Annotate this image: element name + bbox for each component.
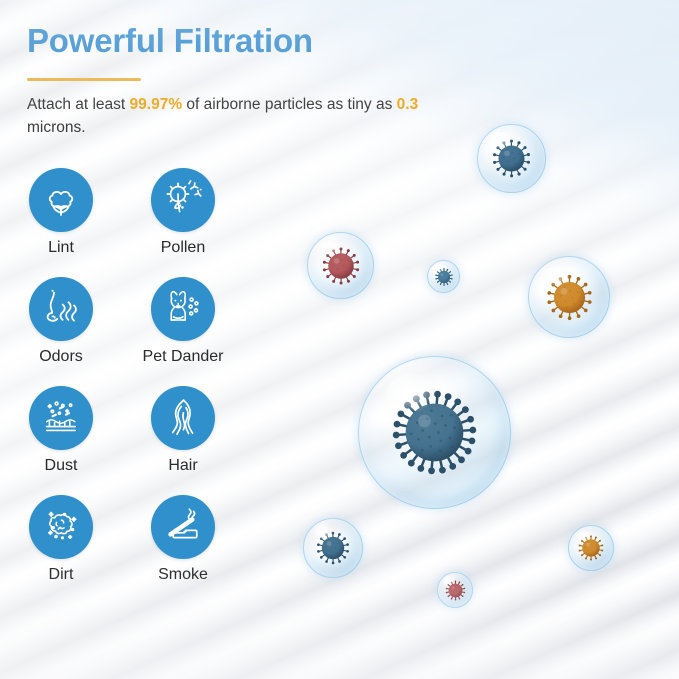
icon-label: Lint xyxy=(48,239,74,257)
icon-label: Odors xyxy=(39,348,83,366)
icon-cell-hair[interactable]: Hair xyxy=(122,386,244,475)
title-accent-rule xyxy=(27,78,141,81)
bubble-specular-highlight xyxy=(489,132,512,150)
dandelion-icon xyxy=(151,168,215,232)
particle-bubble-orange-bottom xyxy=(568,525,614,571)
icon-row-3: Dust Hair xyxy=(0,386,250,495)
dust-on-filter-icon xyxy=(29,386,93,450)
particle-bubble-red-upper xyxy=(307,232,374,299)
icon-cell-pollen[interactable]: Pollen xyxy=(122,168,244,257)
bubble-specular-highlight xyxy=(314,525,334,541)
icon-row-1: Lint Pollen xyxy=(0,168,250,277)
cotton-boll-icon xyxy=(29,168,93,232)
nose-odor-waves-icon xyxy=(29,277,93,341)
icon-cell-pet-dander[interactable]: Pet Dander xyxy=(122,277,244,366)
particle-bubble-small-mid xyxy=(427,260,460,293)
icon-cell-lint[interactable]: Lint xyxy=(0,168,122,257)
subtitle-suffix: microns. xyxy=(27,119,86,136)
subtitle-text: Attach at least 99.97% of airborne parti… xyxy=(27,93,427,139)
bubble-specular-highlight xyxy=(433,264,444,273)
stat-micron-size: 0.3 xyxy=(397,96,419,113)
particle-bubble-top-right xyxy=(477,124,546,193)
icon-label: Smoke xyxy=(158,566,208,584)
icon-row-2: Odors xyxy=(0,277,250,386)
icon-row-4: Dirt Smoke xyxy=(0,495,250,604)
stat-efficiency: 99.97% xyxy=(130,96,183,113)
particle-bubble-red-bottom xyxy=(437,572,473,608)
bubble-specular-highlight xyxy=(386,374,438,414)
dirt-cloud-icon xyxy=(29,495,93,559)
icon-label: Pet Dander xyxy=(143,348,224,366)
particle-bubble-large-center xyxy=(358,356,511,509)
subtitle-prefix: Attach at least xyxy=(27,96,130,113)
subtitle-middle: of airborne particles as tiny as xyxy=(182,96,397,113)
cigarette-ashtray-icon xyxy=(151,495,215,559)
dog-dander-icon xyxy=(151,277,215,341)
icon-cell-dust[interactable]: Dust xyxy=(0,386,122,475)
icon-cell-smoke[interactable]: Smoke xyxy=(122,495,244,584)
hair-strand-icon xyxy=(151,386,215,450)
particle-bubble-orange-right xyxy=(528,256,610,338)
filtration-icon-grid: Lint Pollen xyxy=(0,168,250,604)
bubble-specular-highlight xyxy=(443,576,455,585)
icon-label: Hair xyxy=(168,457,197,475)
infographic-canvas: Powerful Filtration Attach at least 99.9… xyxy=(0,0,679,679)
icon-label: Dust xyxy=(45,457,78,475)
particle-bubble-blue-lower xyxy=(303,518,363,578)
icon-cell-odors[interactable]: Odors xyxy=(0,277,122,366)
icon-label: Dirt xyxy=(49,566,74,584)
icon-label: Pollen xyxy=(161,239,205,257)
bubble-specular-highlight xyxy=(543,266,571,287)
page-title: Powerful Filtration xyxy=(27,22,313,60)
icon-cell-dirt[interactable]: Dirt xyxy=(0,495,122,584)
